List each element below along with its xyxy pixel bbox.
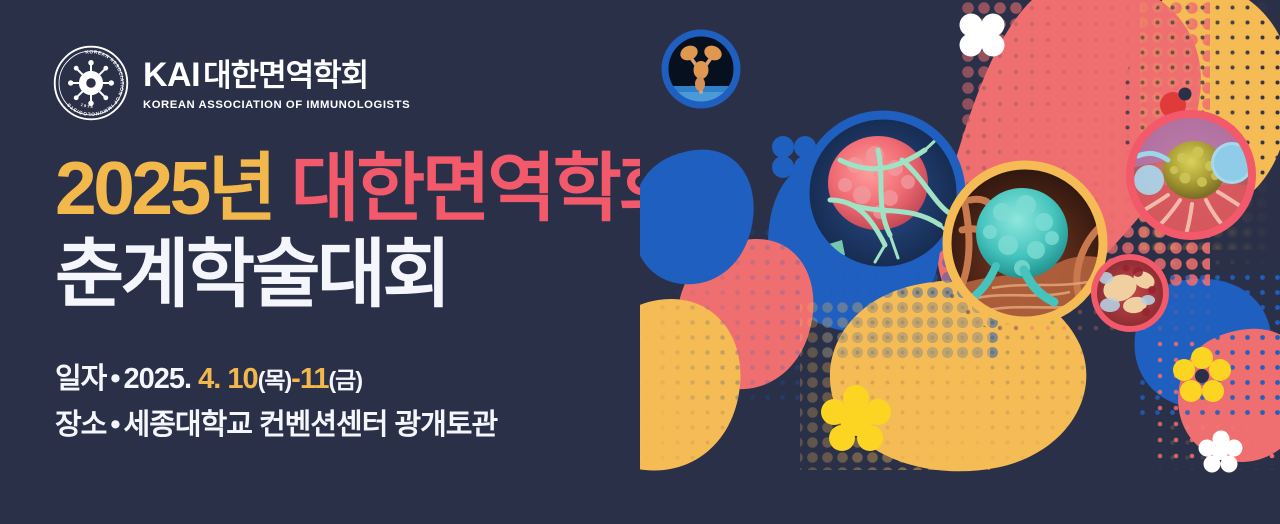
kai-wordmark-title: KAI 대한면역학회 — [143, 58, 410, 92]
date-day-start: 10 — [227, 363, 257, 395]
kai-circular-seal-icon: KOREAN ASSOCIATION OF IMMUNOLOGISTS 1978 — [52, 44, 130, 122]
red-dot-hole — [1179, 88, 1192, 101]
kai-logo[interactable]: KOREAN ASSOCIATION OF IMMUNOLOGISTS 1978 — [52, 44, 410, 122]
kai-acronym: KAI — [143, 58, 200, 92]
venue-bullet: • — [106, 409, 123, 441]
tissue-microscopy-circle — [1093, 256, 1167, 330]
event-date-row: 일자•2025. 4. 10(목)-11(금) — [55, 357, 497, 403]
date-day-start-weekday: (목) — [258, 367, 291, 393]
immunology-artwork — [640, 0, 1280, 524]
halftone-yellow-bottom-spread — [800, 300, 990, 470]
date-range-dash: - — [291, 363, 300, 395]
date-label: 일자 — [55, 363, 106, 395]
kai-name-korean: 대한면역학회 — [203, 60, 368, 91]
event-venue-row: 장소•세종대학교 컨벤션센터 광개토관 — [55, 403, 497, 449]
macrophage-microscopy-circle — [1128, 112, 1254, 238]
date-month: 4. — [198, 363, 220, 395]
event-details: 일자•2025. 4. 10(목)-11(금) 장소•세종대학교 컨벤션센터 광… — [55, 357, 497, 449]
date-bullet: • — [106, 363, 123, 395]
date-year: 2025. — [124, 363, 192, 395]
venue-label: 장소 — [55, 409, 106, 441]
t-cell-microscopy-circle — [945, 163, 1105, 323]
kai-wordmark: KAI 대한면역학회 KOREAN ASSOCIATION OF IMMUNOL… — [143, 55, 410, 111]
venue-value: 세종대학교 컨벤션센터 광개토관 — [124, 409, 498, 441]
kai-name-english: KOREAN ASSOCIATION OF IMMUNOLOGISTS — [143, 99, 410, 111]
headline-year: 2025년 — [55, 146, 273, 230]
headline-line-2: 춘계학술대회 — [55, 238, 684, 310]
headline-line-1: 2025년 대한면역학회 — [55, 152, 684, 224]
conference-banner: KOREAN ASSOCIATION OF IMMUNOLOGISTS 1978 — [0, 0, 1280, 524]
date-day-end: 11 — [300, 363, 329, 395]
antibody-microscopy-circle — [664, 32, 738, 106]
page-title: 2025년 대한면역학회 춘계학술대회 — [55, 152, 684, 310]
headline-organization: 대한면역학회 — [291, 146, 684, 230]
date-day-end-weekday: (금) — [329, 367, 362, 393]
